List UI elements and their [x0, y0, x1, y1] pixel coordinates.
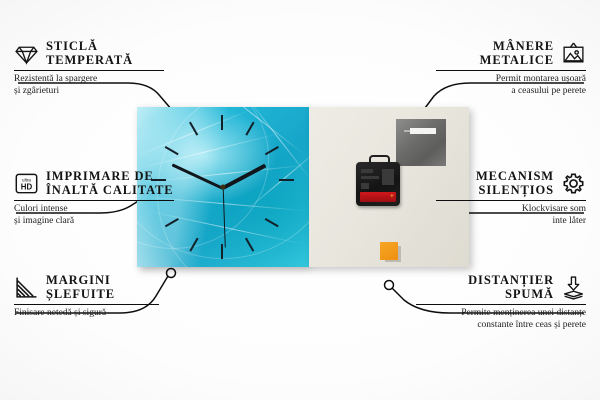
- ultra-hd-icon: ultra HD: [14, 171, 39, 196]
- callout-title: MECANISM SILENȚIOS: [476, 170, 554, 197]
- beveled-edge-icon: [14, 275, 39, 300]
- gear-icon: [561, 171, 586, 196]
- callout-polished-edges: MARGINI ȘLEFUITE Finisare netedă și sigu…: [14, 274, 159, 320]
- infographic-canvas: + STICLĂ TEMPERATĂ Rezistentă la sparger…: [0, 0, 600, 400]
- callout-high-quality-print: ultra HD IMPRIMARE DE ÎNALTĂ CALITATE Cu…: [14, 170, 174, 227]
- callout-title: DISTANȚIER SPUMĂ: [468, 274, 554, 301]
- clock-movement: +: [356, 162, 400, 206]
- hanging-picture-icon: [561, 41, 586, 66]
- callout-rule: [436, 200, 586, 201]
- callout-silent-mechanism: MECANISM SILENȚIOS Klockvisare som inte …: [436, 170, 586, 227]
- callout-title: STICLĂ TEMPERATĂ: [46, 40, 133, 67]
- callout-rule: [14, 200, 174, 201]
- callout-subtitle: Klockvisare som inte låter: [436, 204, 586, 227]
- callout-subtitle: Permite menținerea unei distanțe constan…: [416, 308, 586, 331]
- callout-rule: [14, 304, 159, 305]
- callout-subtitle: Rezistentă la spargere și zgârieturi: [14, 74, 164, 97]
- callout-rule: [436, 70, 586, 71]
- callout-title: MÂNERE METALICE: [480, 40, 554, 67]
- movement-hook: [369, 155, 390, 165]
- diamond-icon: [14, 41, 39, 66]
- clock-center-hub: [221, 185, 226, 190]
- callout-subtitle: Culori intense și imagine clară: [14, 204, 174, 227]
- callout-tempered-glass: STICLĂ TEMPERATĂ Rezistentă la spargere …: [14, 40, 164, 97]
- clock-tick: [279, 179, 294, 181]
- callout-metal-handles: MÂNERE METALICE Permit montarea ușoară a…: [436, 40, 586, 97]
- hanger-plate: [396, 119, 446, 166]
- arrow-onto-layers-icon: [561, 275, 586, 300]
- hanger-keyhole-slot: [410, 128, 436, 134]
- callout-title: IMPRIMARE DE ÎNALTĂ CALITATE: [46, 170, 174, 197]
- callout-foam-spacer: DISTANȚIER SPUMĂ Permite menținerea unei…: [416, 274, 586, 331]
- svg-text:HD: HD: [21, 182, 33, 191]
- clock-tick: [221, 244, 223, 259]
- callout-rule: [416, 304, 586, 305]
- battery-plus-mark: +: [390, 193, 394, 200]
- callout-rule: [14, 70, 164, 71]
- foam-spacer: [380, 242, 398, 260]
- callout-subtitle: Permit montarea ușoară a ceasului pe per…: [436, 74, 586, 97]
- clock-tick: [221, 115, 223, 130]
- connector-dot-edges: [167, 269, 176, 278]
- connector-dot-spacer: [385, 281, 394, 290]
- callout-subtitle: Finisare netedă și sigură: [14, 308, 159, 320]
- callout-title: MARGINI ȘLEFUITE: [46, 274, 115, 301]
- clock-battery: +: [360, 192, 396, 202]
